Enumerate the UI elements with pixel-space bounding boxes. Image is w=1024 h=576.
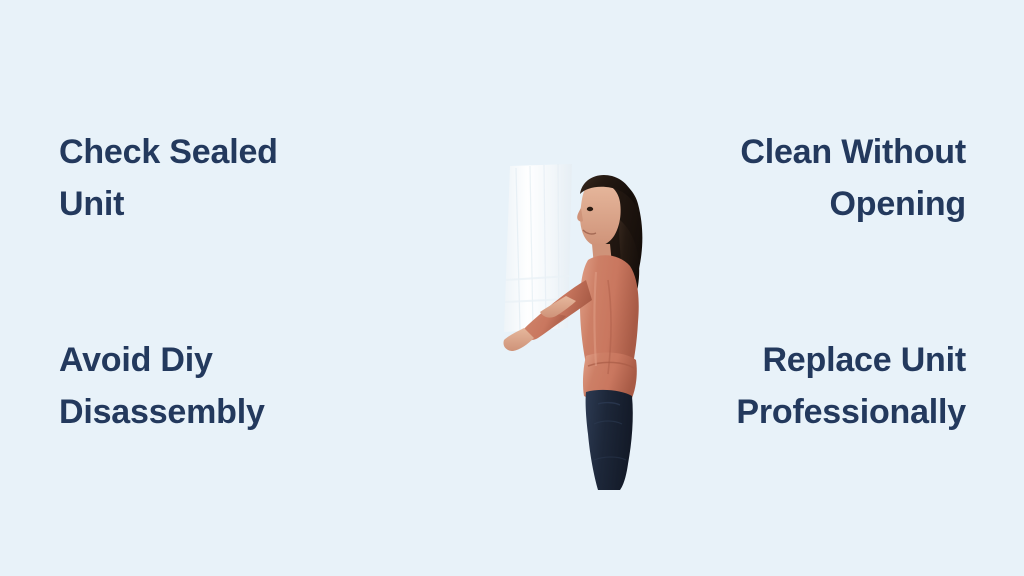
callout-check-sealed-unit: Check Sealed Unit (59, 126, 389, 230)
slide-canvas: Check Sealed Unit Clean Without Opening … (0, 0, 1024, 576)
jeans (586, 390, 633, 490)
center-photo-figure (480, 160, 680, 490)
callout-clean-without-opening: Clean Without Opening (636, 126, 966, 230)
callout-avoid-diy-disassembly: Avoid Diy Disassembly (59, 334, 389, 438)
woman-holding-curtain-illustration (480, 160, 680, 490)
callout-replace-unit-professionally: Replace Unit Professionally (636, 334, 966, 438)
eye (587, 207, 593, 211)
